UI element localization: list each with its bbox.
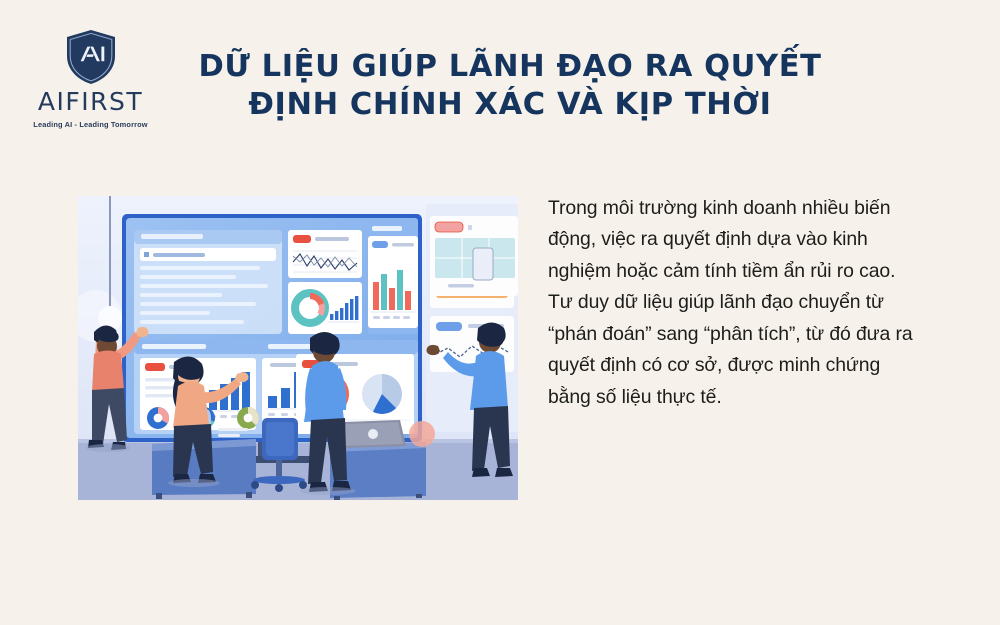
- page-title: DỮ LIỆU GIÚP LÃNH ĐẠO RA QUYẾT ĐỊNH CHÍN…: [180, 48, 840, 125]
- brand-wordmark: AIFIRST: [18, 89, 163, 114]
- brand-tagline: Leading AI - Leading Tomorrow: [18, 121, 163, 128]
- page-title-line-2: ĐỊNH CHÍNH XÁC VÀ KỊP THỜI: [180, 86, 840, 124]
- brand-logo: AIFIRST Leading AI - Leading Tomorrow: [18, 28, 163, 128]
- shield-ai-icon: [18, 28, 163, 86]
- page-title-line-1: DỮ LIỆU GIÚP LÃNH ĐẠO RA QUYẾT: [180, 48, 840, 86]
- body-paragraph: Trong môi trường kinh doanh nhiều biến đ…: [548, 193, 914, 413]
- dashboard-meeting-illustration: [78, 196, 518, 500]
